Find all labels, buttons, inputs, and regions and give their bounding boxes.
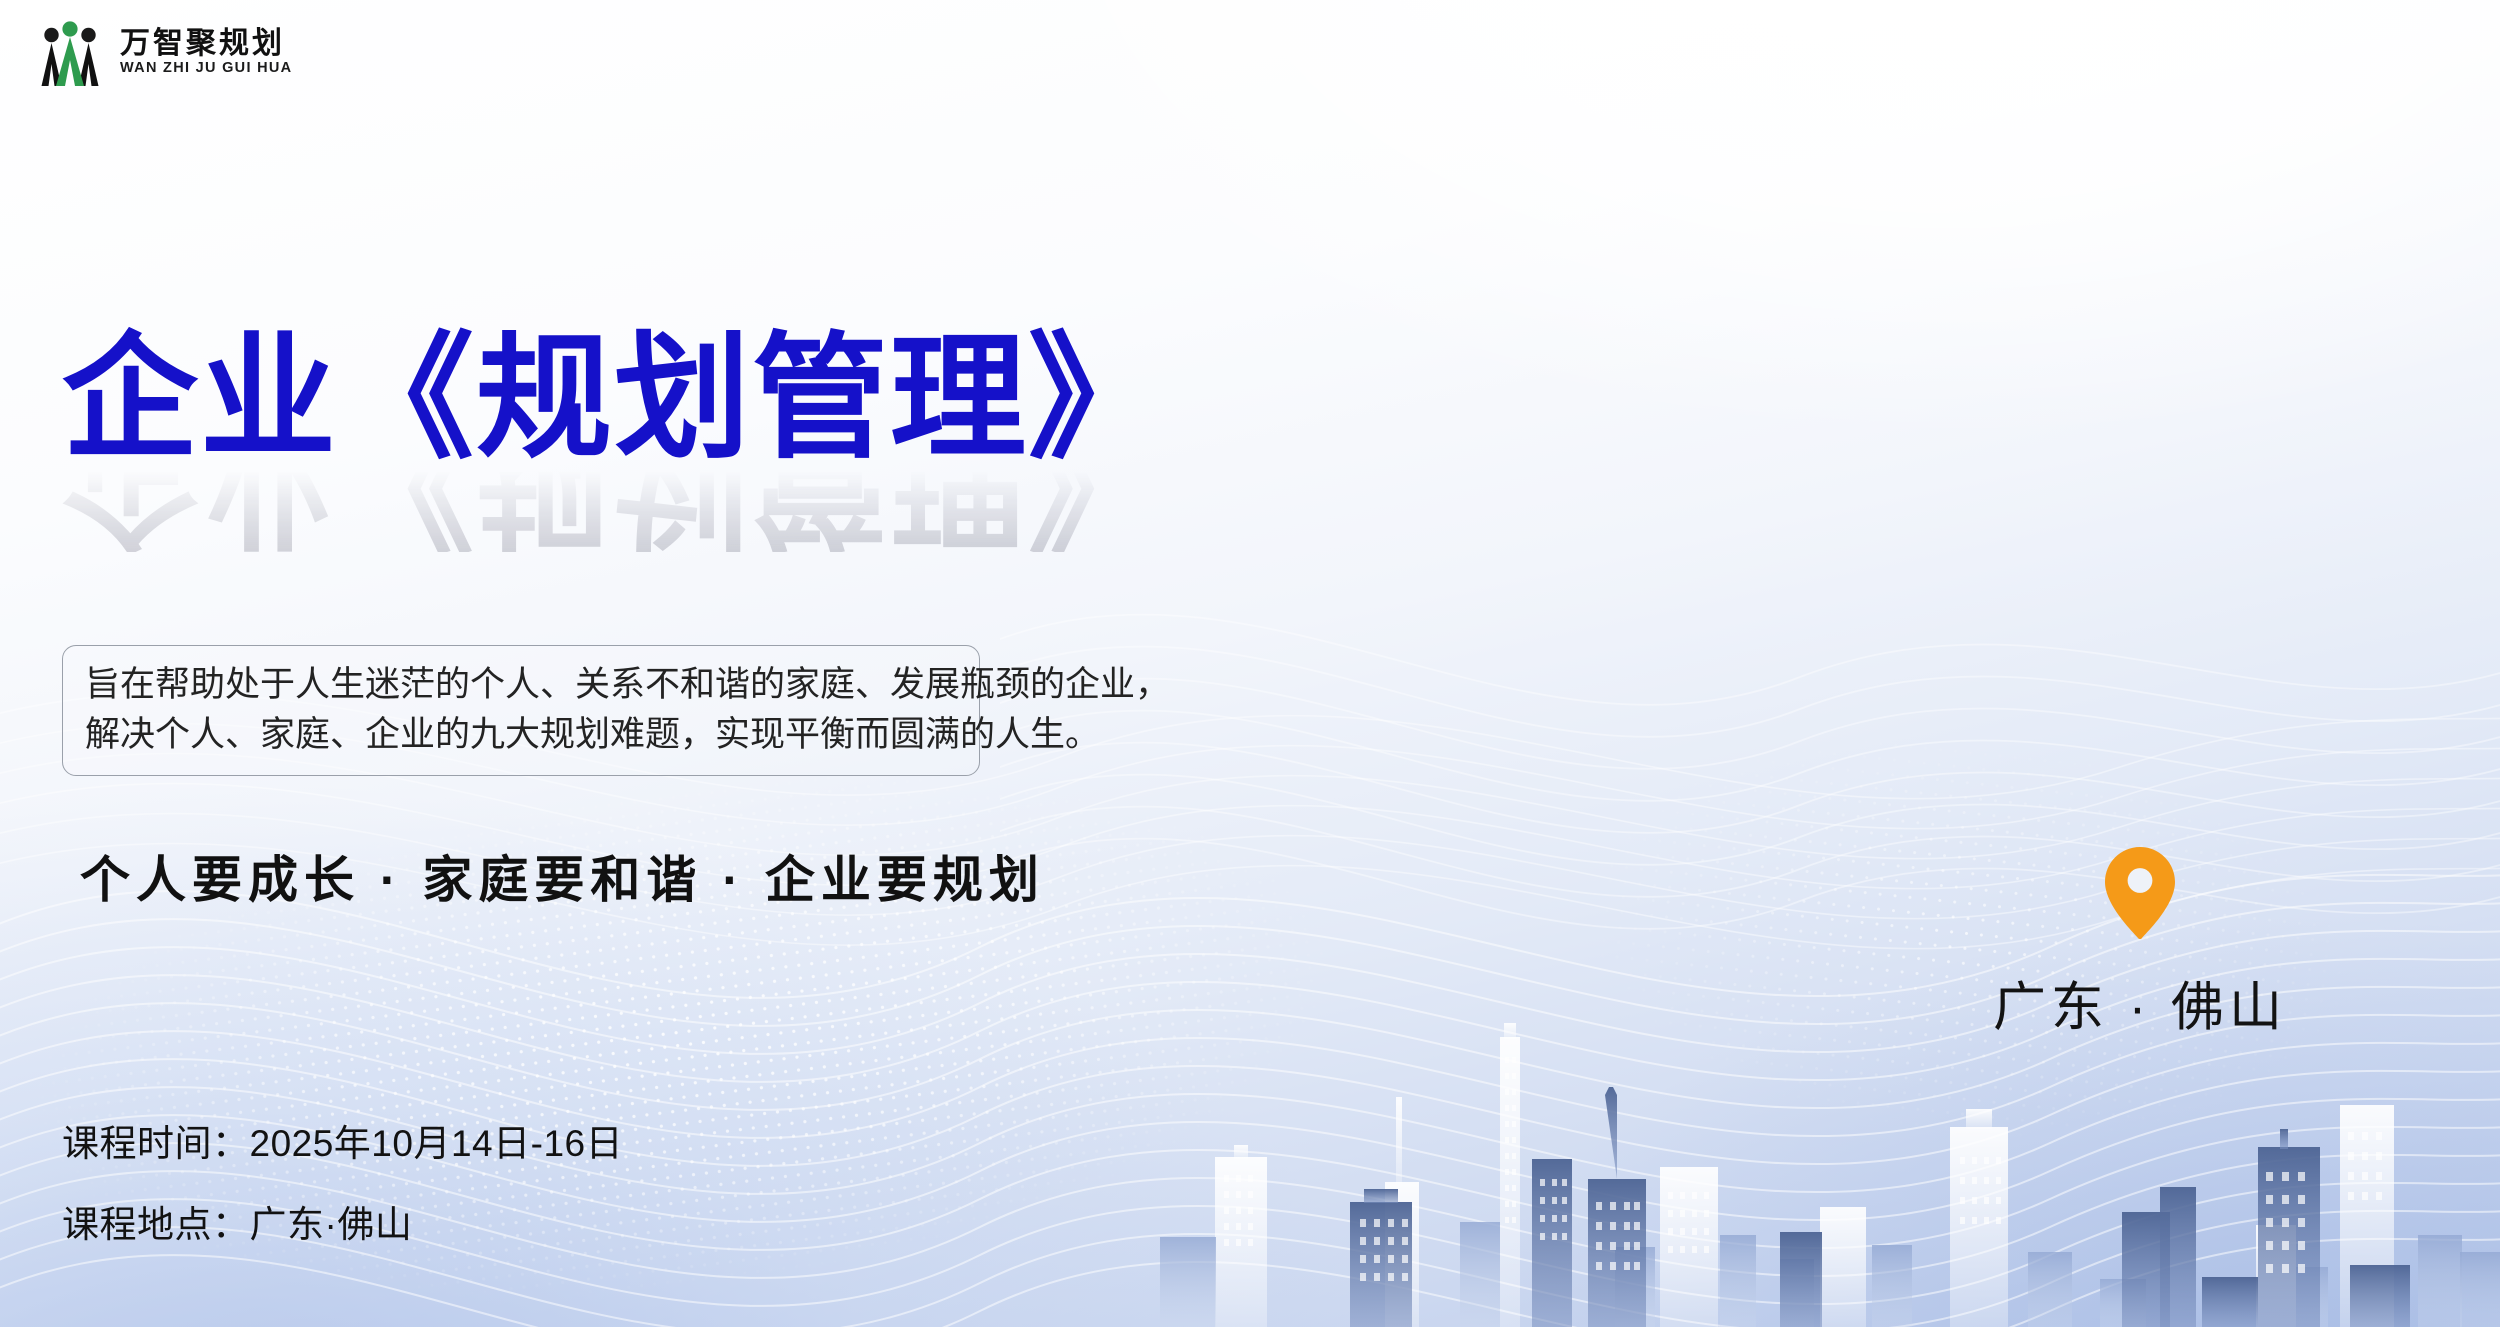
course-info-block: 课程时间：2025年10月14日-16日 课程地点：广东·佛山 bbox=[62, 1125, 623, 1243]
page-title: 企业《规划管理》 bbox=[62, 330, 1166, 466]
three-people-logo-icon bbox=[34, 18, 106, 86]
course-time-value: 2025年10月14日-16日 bbox=[250, 1123, 624, 1164]
brand-name-en: WAN ZHI JU GUI HUA bbox=[120, 61, 292, 76]
course-place-value: 广东·佛山 bbox=[250, 1204, 413, 1245]
description-box: 旨在帮助处于人生迷茫的个人、关系不和谐的家庭、发展瓶颈的企业， 解决个人、家庭、… bbox=[62, 645, 980, 776]
location-badge: 广东 · 佛山 bbox=[1960, 845, 2320, 1041]
hero-slogan: 个人要成长 · 家庭要和谐 · 企业要规划 bbox=[80, 840, 1045, 912]
course-time-label: 课程时间： bbox=[62, 1123, 250, 1164]
brand-name-cn: 万智聚规划 bbox=[120, 29, 292, 59]
hero-title-block: 企业《规划管理》 企业《规划管理》 bbox=[62, 330, 1166, 552]
poster-canvas: 万智聚规划 WAN ZHI JU GUI HUA 企业《规划管理》 企业《规划管… bbox=[0, 0, 2500, 1327]
brand-logo-text: 万智聚规划 WAN ZHI JU GUI HUA bbox=[120, 29, 292, 76]
page-title-reflection: 企业《规划管理》 bbox=[62, 466, 1166, 552]
description-line-1: 旨在帮助处于人生迷茫的个人、关系不和谐的家庭、发展瓶颈的企业， bbox=[85, 660, 957, 710]
map-pin-icon bbox=[2102, 845, 2178, 941]
course-time-row: 课程时间：2025年10月14日-16日 bbox=[62, 1125, 623, 1162]
course-place-label: 课程地点： bbox=[62, 1204, 250, 1245]
city-skyline-decoration bbox=[1160, 997, 2500, 1327]
location-label: 广东 · 佛山 bbox=[1960, 965, 2320, 1041]
course-place-row: 课程地点：广东·佛山 bbox=[62, 1206, 623, 1243]
brand-logo: 万智聚规划 WAN ZHI JU GUI HUA bbox=[34, 18, 292, 86]
description-line-2: 解决个人、家庭、企业的九大规划难题，实现平衡而圆满的人生。 bbox=[85, 710, 957, 760]
